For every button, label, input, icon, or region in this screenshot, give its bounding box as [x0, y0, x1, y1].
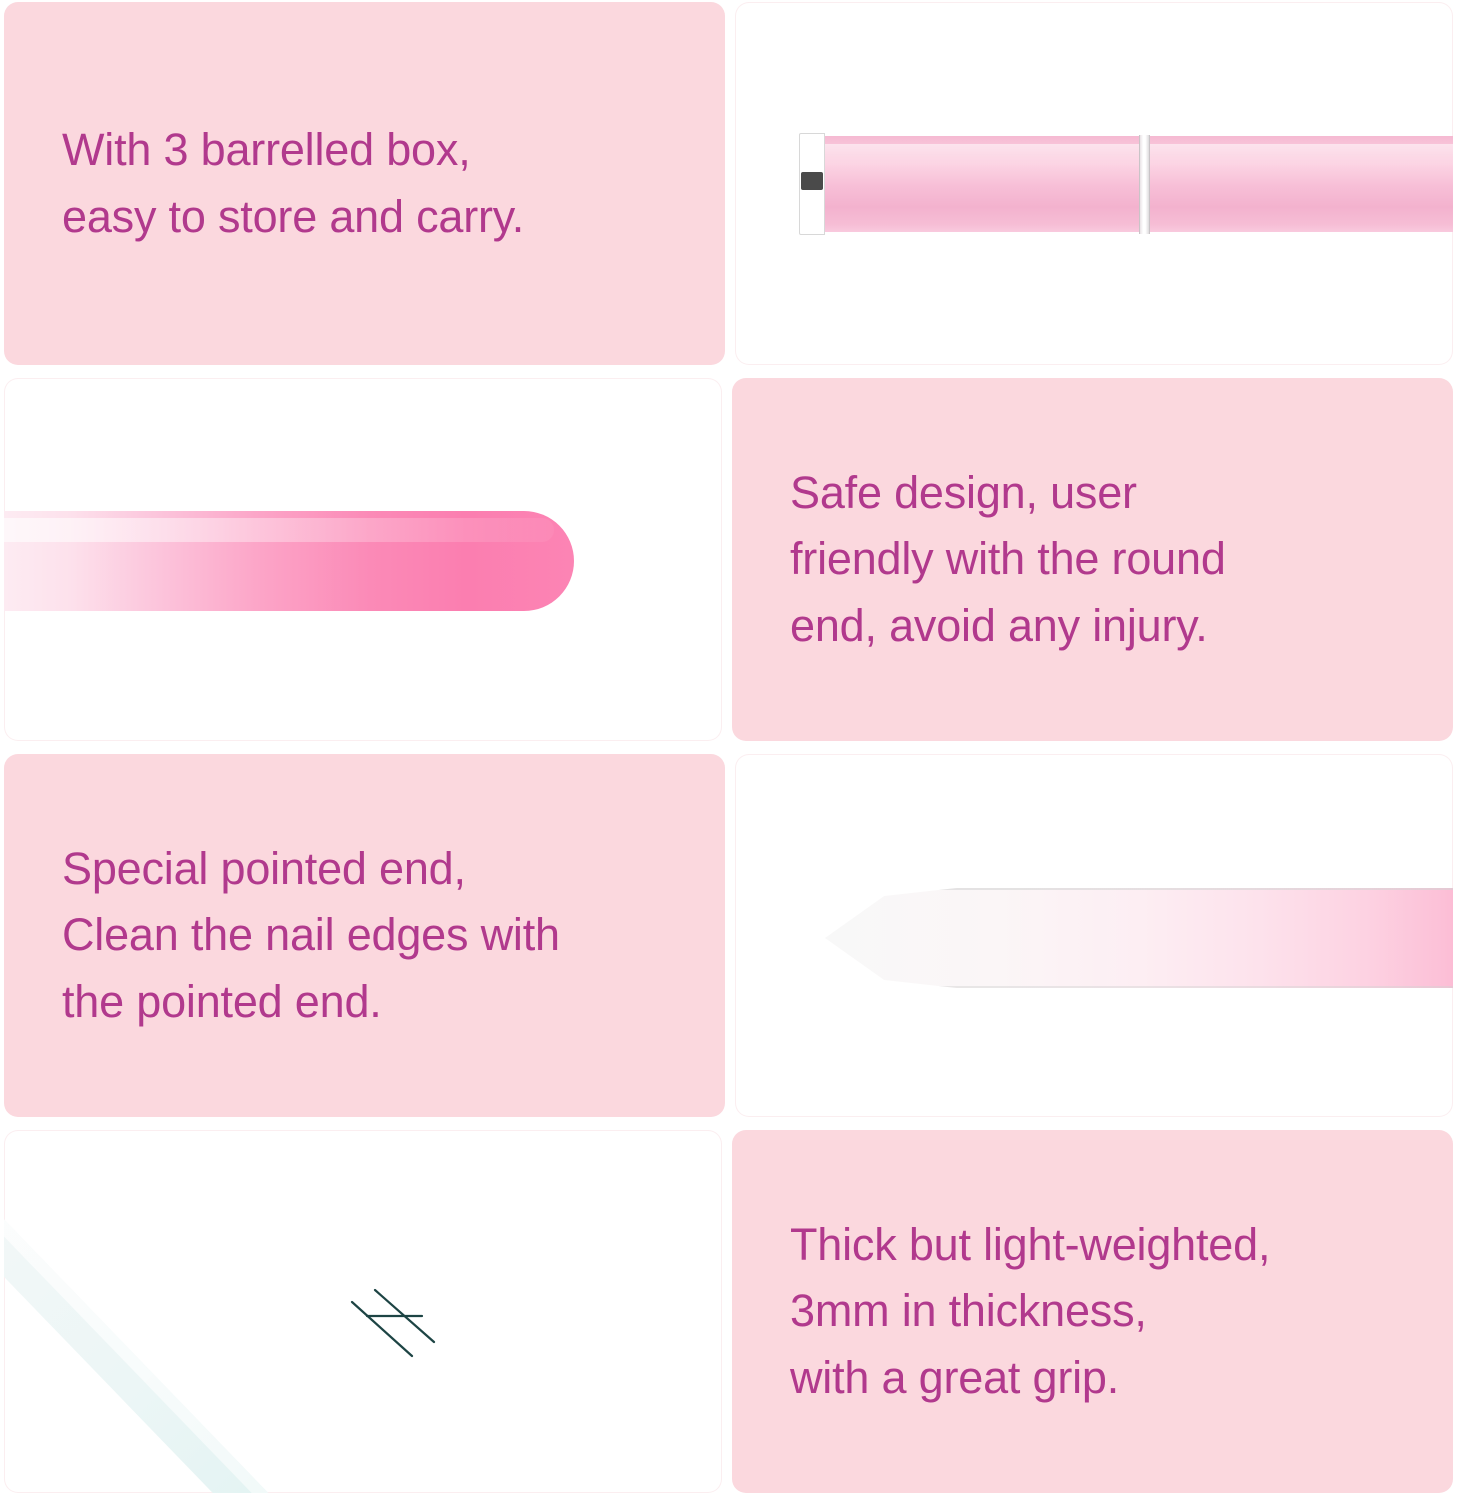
image-panel-rounded-file: [4, 378, 722, 741]
caption-panel-thickness: Thick but light-weighted, 3mm in thickne…: [732, 1130, 1453, 1493]
tube-gloss-highlight: [803, 144, 1453, 166]
pink-barrel-tube-illustration: [735, 2, 1453, 365]
image-panel-pointed-file: [735, 754, 1453, 1117]
feature-row-pointed-end: Special pointed end, Clean the nail edge…: [4, 754, 1453, 1117]
thickness-diagram-illustration: 3MM: [4, 1130, 722, 1493]
caption-text-round-end: Safe design, user friendly with the roun…: [732, 460, 1242, 660]
caption-text-thickness: Thick but light-weighted, 3mm in thickne…: [732, 1212, 1286, 1412]
caption-text-pointed-end: Special pointed end, Clean the nail edge…: [4, 836, 576, 1036]
nail-file-pointed-edge: [825, 888, 1453, 988]
tube-barrel-seam: [1139, 135, 1150, 234]
feature-row-thickness: 3MM Thick but light-weighted, 3mm in thi…: [4, 1130, 1453, 1493]
image-panel-barrel-tube-case: [735, 2, 1453, 365]
image-panel-thickness-diagram: 3MM: [4, 1130, 722, 1493]
rounded-end-file-illustration: [4, 378, 722, 741]
caption-panel-barrel-box: With 3 barrelled box, easy to store and …: [4, 2, 725, 365]
caption-panel-round-end: Safe design, user friendly with the roun…: [732, 378, 1453, 741]
feature-row-round-end: Safe design, user friendly with the roun…: [4, 378, 1453, 741]
caption-text-barrel-box: With 3 barrelled box, easy to store and …: [4, 117, 540, 250]
nail-file-rounded-gloss: [4, 518, 554, 542]
product-feature-infographic: With 3 barrelled box, easy to store and …: [0, 0, 1457, 1500]
tube-cap-tab-icon: [801, 172, 823, 190]
pointed-end-file-illustration: [735, 754, 1453, 1117]
feature-row-barrel-box: With 3 barrelled box, easy to store and …: [4, 2, 1453, 365]
caption-panel-pointed-end: Special pointed end, Clean the nail edge…: [4, 754, 725, 1117]
